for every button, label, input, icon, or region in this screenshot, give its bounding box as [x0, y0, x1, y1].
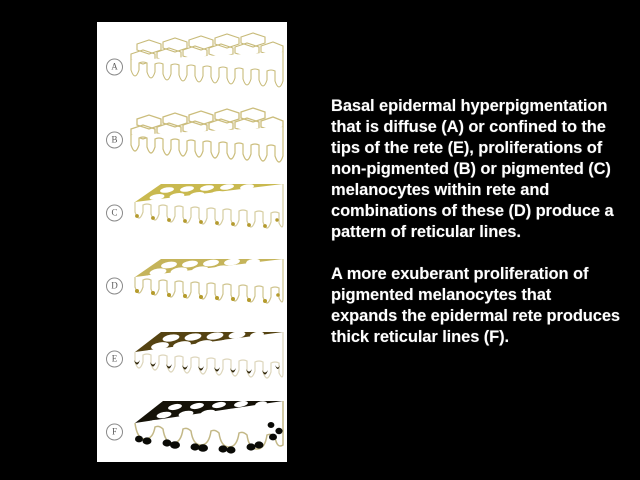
panel-illustration-c — [127, 176, 285, 249]
panel-illustration-a — [127, 30, 285, 103]
panel-label-d: D — [106, 277, 123, 294]
panel-label-b: B — [106, 131, 123, 148]
panel-label-f: F — [106, 423, 123, 440]
diagram-row-b: B — [97, 103, 287, 176]
caption-paragraph-2: A more exuberant proliferation of pigmen… — [331, 264, 621, 348]
slide-canvas: A — [0, 0, 640, 480]
panel-label-c: C — [106, 204, 123, 221]
caption-text-column: Basal epidermal hyperpigmentation that i… — [331, 96, 621, 348]
panel-illustration-e — [127, 322, 285, 395]
caption-paragraph-1: Basal epidermal hyperpigmentation that i… — [331, 96, 621, 243]
panel-illustration-b — [127, 103, 285, 176]
figure-panel: A — [97, 22, 287, 462]
diagram-row-e: E — [97, 322, 287, 395]
diagram-row-f: F — [97, 395, 287, 468]
panel-illustration-f — [127, 395, 285, 468]
diagram-row-a: A — [97, 30, 287, 103]
panel-label-e: E — [106, 350, 123, 367]
diagram-row-d: D — [97, 249, 287, 322]
diagram-row-c: C — [97, 176, 287, 249]
panel-label-a: A — [106, 58, 123, 75]
panel-illustration-d — [127, 249, 285, 322]
